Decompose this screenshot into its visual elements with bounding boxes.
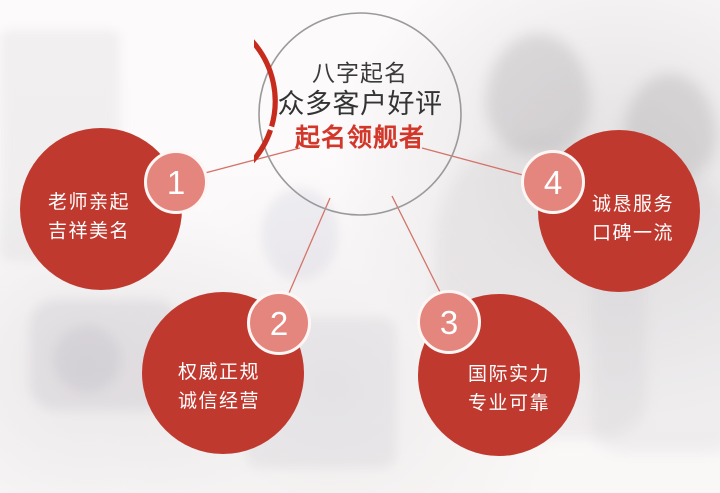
badge-number-4[interactable]: 4 (521, 150, 585, 214)
feature-1-line-2: 吉祥美名 (48, 217, 130, 246)
feature-3-line-1: 国际实力 (468, 360, 550, 389)
emblem-line-2: 众多客户好评 (254, 89, 466, 121)
emblem-line-1: 八字起名 (254, 60, 466, 87)
badge-number-1[interactable]: 1 (144, 150, 208, 214)
feature-4-line-2: 口碑一流 (592, 219, 674, 248)
infographic-canvas: 八字起名 众多客户好评 起名领舰者 老师亲起 吉祥美名 1 权威正规 诚信经营 … (0, 0, 720, 493)
feature-3-line-2: 专业可靠 (468, 389, 550, 418)
badge-number-3[interactable]: 3 (417, 290, 481, 354)
feature-3-text: 国际实力 专业可靠 (468, 360, 550, 419)
feature-4-line-1: 诚恳服务 (592, 190, 674, 219)
feature-2-text: 权威正规 诚信经营 (178, 358, 260, 417)
feature-2-line-2: 诚信经营 (178, 387, 260, 416)
feature-circle-1[interactable]: 老师亲起 吉祥美名 (20, 128, 182, 290)
badge-number-2[interactable]: 2 (247, 291, 311, 355)
feature-4-text: 诚恳服务 口碑一流 (592, 190, 674, 249)
background-prop-wheel (54, 326, 120, 392)
emblem-line-3: 起名领舰者 (254, 124, 466, 154)
emblem-text-block: 八字起名 众多客户好评 起名领舰者 (254, 60, 466, 153)
feature-1-text: 老师亲起 吉祥美名 (48, 188, 130, 247)
feature-1-line-1: 老师亲起 (48, 188, 130, 217)
feature-2-line-1: 权威正规 (178, 358, 260, 387)
center-emblem[interactable]: 八字起名 众多客户好评 起名领舰者 (254, 8, 466, 220)
background-person-male-head (486, 34, 590, 154)
